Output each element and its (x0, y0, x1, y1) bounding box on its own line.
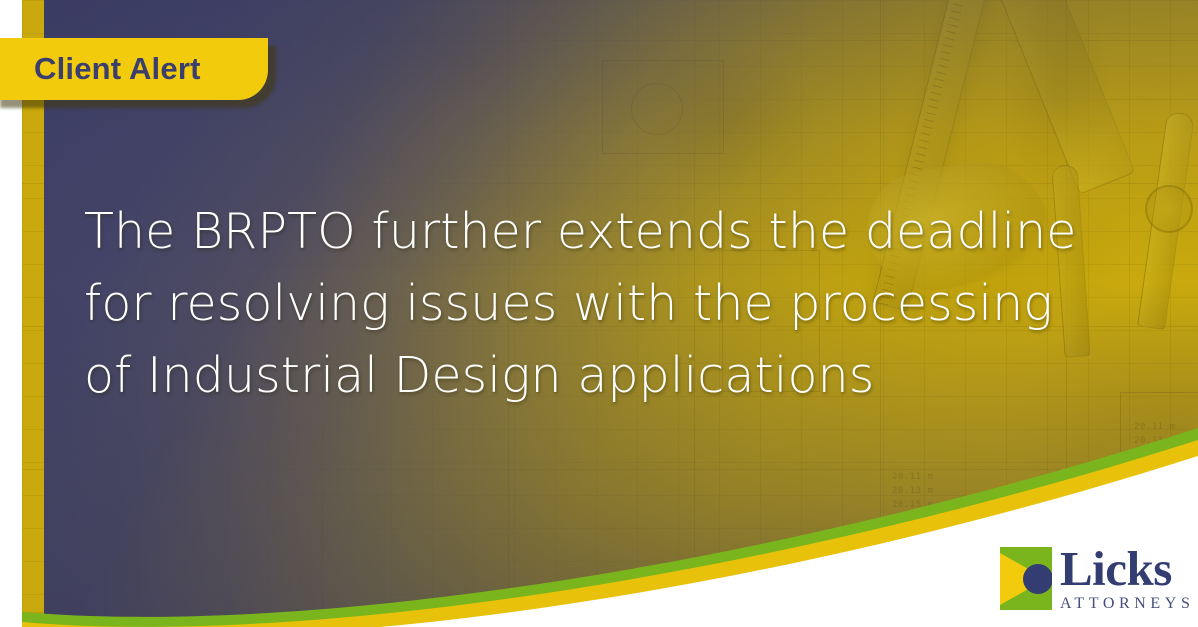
headline-line-2: for resolving issues with the processing (84, 268, 1144, 340)
client-alert-badge: Client Alert (0, 38, 268, 100)
circle-shape-icon (1023, 564, 1052, 594)
headline-line-3: of Industrial Design applications (84, 340, 1144, 412)
page-title: The BRPTO further extends the deadline f… (84, 196, 1144, 412)
client-alert-banner: 20.11 m20.13 m20.15 m20.18 m20.20 m 20.1… (0, 0, 1198, 627)
headline-line-1: The BRPTO further extends the deadline (84, 196, 1144, 268)
licks-attorneys-logo[interactable]: Licks ATTORNEYS (1000, 545, 1190, 615)
client-alert-badge-label: Client Alert (0, 51, 201, 87)
logo-name: Licks (1060, 545, 1194, 593)
logo-text-block: Licks ATTORNEYS (1060, 545, 1194, 613)
logo-subtitle: ATTORNEYS (1060, 594, 1194, 613)
brazil-flag-mark-icon (1000, 547, 1052, 610)
